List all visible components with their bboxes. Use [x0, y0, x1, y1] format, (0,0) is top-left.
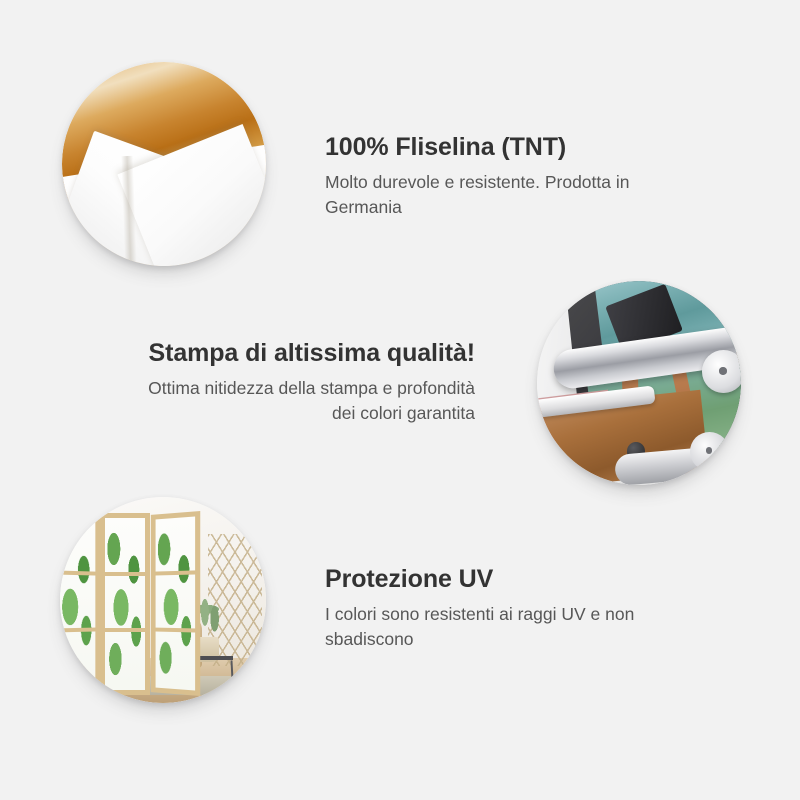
divider-rail [105, 628, 145, 632]
tropical-room-divider-photo [60, 497, 266, 703]
divider-rail [60, 628, 95, 633]
divider-rail [105, 572, 145, 576]
feature-text-uv: Protezione UV I colori sono resistenti a… [325, 565, 685, 653]
printer-roller-end-cap [702, 350, 741, 393]
feature-image-uv [60, 497, 266, 703]
feature-text-fliselina: 100% Fliselina (TNT) Molto durevole e re… [325, 133, 685, 221]
feature-image-fliselina [62, 62, 266, 266]
tropical-room-divider [60, 513, 200, 694]
feature-image-stampa [537, 281, 741, 485]
divider-rail [60, 571, 95, 576]
printer-lower-roller-cap [690, 432, 729, 471]
feature-title-uv: Protezione UV [325, 565, 685, 594]
feature-description-uv: I colori sono resistenti ai raggi UV e n… [325, 602, 685, 653]
divider-rail [156, 628, 195, 633]
wallpaper-roll-peeled-corner-photo [62, 62, 266, 266]
feature-description-fliselina: Molto durevole e resistente. Prodotta in… [325, 170, 685, 221]
divider-panel-1 [60, 511, 99, 697]
feature-description-stampa: Ottima nitidezza della stampa e profondi… [130, 376, 475, 427]
feature-title-fliselina: 100% Fliselina (TNT) [325, 133, 685, 162]
feature-title-stampa: Stampa di altissima qualità! [130, 339, 475, 368]
divider-panel-3 [151, 511, 200, 696]
feature-text-stampa: Stampa di altissima qualità! Ottima niti… [130, 339, 475, 427]
divider-panel-2 [100, 513, 150, 694]
infographic-canvas: 100% Fliselina (TNT) Molto durevole e re… [0, 0, 800, 800]
divider-rail [156, 571, 195, 576]
printing-machine-rollers-photo [537, 281, 741, 485]
